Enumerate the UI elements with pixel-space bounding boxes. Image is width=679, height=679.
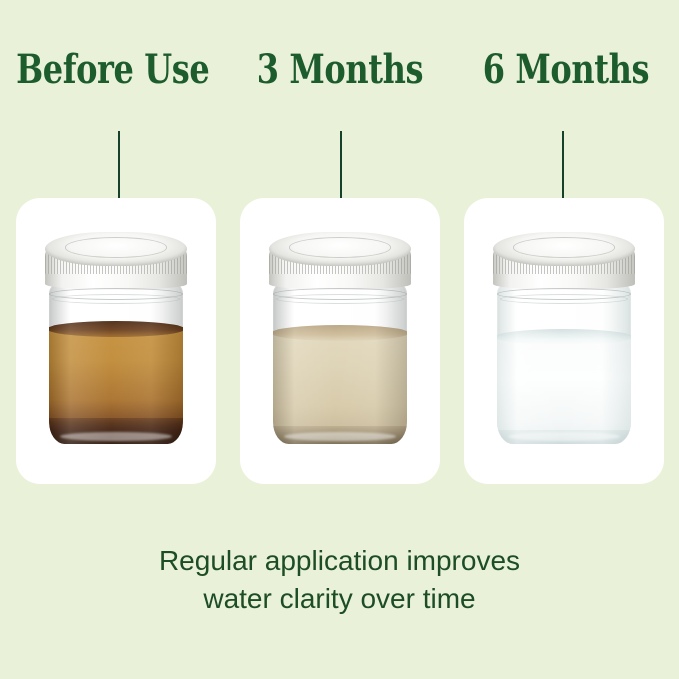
connector-line-6-months [562,131,564,205]
stage-heading-3-months: 3 Months [256,50,422,90]
jar-base-highlight [60,432,173,441]
caption-line-2: water clarity over time [0,580,679,618]
jar-illustration-6-months [491,232,637,448]
jar-cards-row [16,198,664,484]
heading-cell-6-months: 6 Months [453,50,679,112]
jar-glass-body [273,284,407,444]
heading-cell-3-months: 3 Months [226,50,452,112]
stage-heading-before-use: Before Use [17,50,210,90]
jar-neck-ring-inner [52,294,180,304]
jar-card-3-months [240,198,440,484]
jar-glass-body [497,284,631,444]
jar-lid-top-icon [269,232,411,266]
stage-heading-6-months: 6 Months [483,50,649,90]
jar-illustration-3-months [267,232,413,448]
jar-lid-top-icon [45,232,187,266]
jar-glass-body [49,284,183,444]
jar-glass-sheen [273,284,407,444]
jar-neck-ring-inner [276,294,404,304]
caption-block: Regular application improves water clari… [0,542,679,618]
jar-card-before-use [16,198,216,484]
jar-card-6-months [464,198,664,484]
connector-line-before-use [118,131,120,205]
jar-base-highlight [508,432,621,441]
caption-line-1: Regular application improves [0,542,679,580]
jar-base-highlight [284,432,397,441]
jar-illustration-before-use [43,232,189,448]
jar-neck-ring-inner [500,294,628,304]
stage-headings-row: Before Use 3 Months 6 Months [0,50,679,112]
comparison-infographic: Before Use 3 Months 6 Months [0,0,679,679]
jar-glass-sheen [49,284,183,444]
connector-line-3-months [340,131,342,205]
jar-lid-top-icon [493,232,635,266]
jar-glass-sheen [497,284,631,444]
heading-cell-before-use: Before Use [0,50,226,112]
